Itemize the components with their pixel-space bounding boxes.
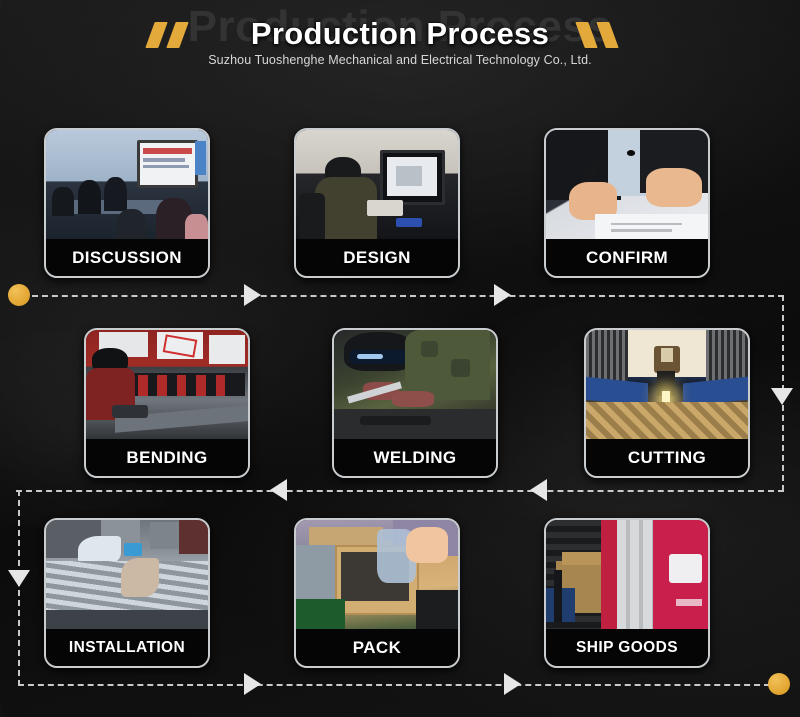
flow-start-marker-dot [8,284,30,306]
process-step-photo [46,130,208,243]
process-step-label: INSTALLATION [46,629,208,666]
process-step-card-pack[interactable]: PACK [294,518,460,668]
photo-scene-cutting [586,330,748,443]
process-step-photo [296,130,458,243]
flow-line-row2 [16,490,784,492]
page-header: Production Process Production Process Su… [0,0,800,84]
flow-arrow-right-3 [244,673,261,695]
flow-line-right-down [782,295,784,491]
photo-scene-confirm [546,130,708,243]
process-step-photo [46,520,208,633]
process-step-label: CONFIRM [546,239,708,276]
process-step-card-design[interactable]: DESIGN [294,128,460,278]
flow-arrow-down-left [8,570,30,587]
process-step-label: PACK [296,629,458,666]
process-step-photo [546,130,708,243]
process-step-card-welding[interactable]: WELDING [332,328,498,478]
photo-scene-bending [86,330,248,443]
process-step-label: WELDING [334,439,496,476]
photo-scene-installation [46,520,208,633]
photo-scene-ship [546,520,708,633]
photo-scene-design [296,130,458,243]
process-step-card-installation[interactable]: INSTALLATION [44,518,210,668]
flow-line-row3 [18,684,770,686]
flow-arrow-right-1 [244,284,261,306]
process-step-photo [296,520,458,633]
process-step-label: DISCUSSION [46,239,208,276]
process-step-label: BENDING [86,439,248,476]
process-step-photo [546,520,708,633]
flow-arrow-down-right [771,388,793,405]
process-step-card-bending[interactable]: BENDING [84,328,250,478]
page-title: Production Process [0,16,800,52]
flow-end-marker-dot [768,673,790,695]
process-step-label: DESIGN [296,239,458,276]
process-step-card-ship-goods[interactable]: SHIP GOODS [544,518,710,668]
flow-arrow-right-2 [494,284,511,306]
process-step-photo [86,330,248,443]
flow-line-left-down [18,490,20,686]
process-step-card-discussion[interactable]: DISCUSSION [44,128,210,278]
company-subtitle: Suzhou Tuoshenghe Mechanical and Electri… [0,53,800,67]
process-step-label: CUTTING [586,439,748,476]
photo-scene-welding [334,330,496,443]
process-step-label: SHIP GOODS [546,629,708,666]
photo-scene-discussion [46,130,208,243]
process-step-card-confirm[interactable]: CONFIRM [544,128,710,278]
flow-arrow-right-4 [504,673,521,695]
process-step-photo [586,330,748,443]
flow-line-row1 [32,295,784,297]
process-step-card-cutting[interactable]: CUTTING [584,328,750,478]
photo-scene-pack [296,520,458,633]
process-step-photo [334,330,496,443]
flow-arrow-left-1 [270,479,287,501]
flow-arrow-left-2 [530,479,547,501]
